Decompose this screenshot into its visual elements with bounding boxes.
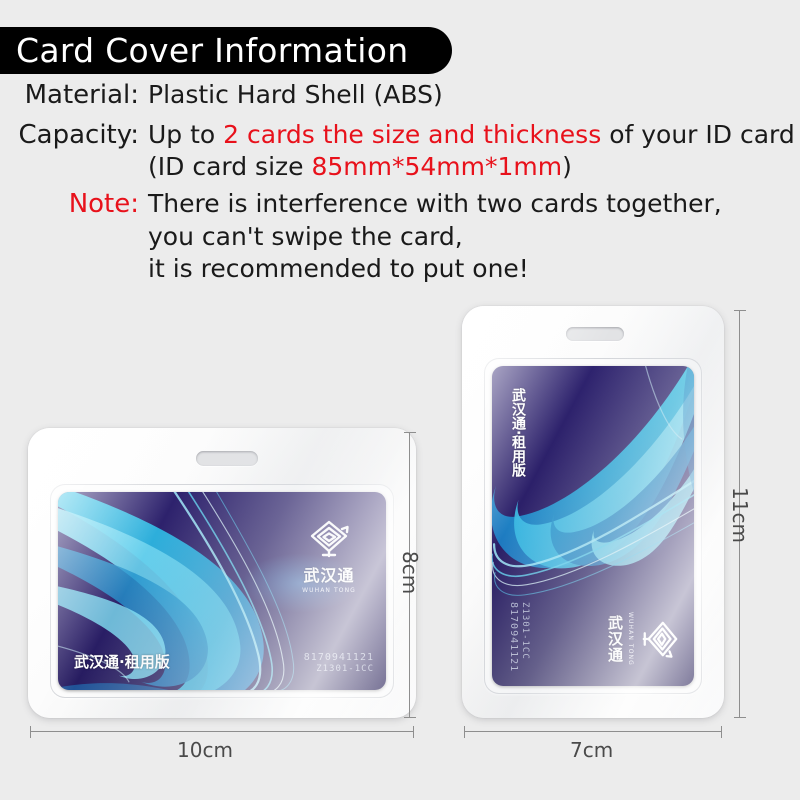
- capacity-text-pre: Up to: [148, 120, 223, 149]
- card-edition-vertical: 武汉通·租用版: [508, 388, 528, 477]
- dimension-width-label-horizontal: 10cm: [177, 738, 233, 762]
- transit-card-horizontal: 武汉通 WUHAN TONG 8170941121 Z1301-1CC 武汉通·…: [58, 492, 386, 690]
- capacity-text-post: of your ID card: [601, 120, 795, 149]
- dimension-height-label-vertical: 11cm: [728, 487, 752, 543]
- infographic-canvas: Card Cover Information Material: Plastic…: [0, 0, 800, 800]
- spec-row-material: Material: Plastic Hard Shell (ABS): [0, 82, 800, 108]
- spec-row-capacity: Capacity: Up to 2 cards the size and thi…: [0, 122, 800, 148]
- spec-row-note-2: you can't swipe the card,: [0, 224, 800, 249]
- card-serial-bottom-horizontal: Z1301-1CC: [304, 664, 374, 674]
- vertical-card-holder: 武汉通·租用版 8170941121 Z1301-1CC 武汉通 WUHAN T…: [462, 306, 724, 718]
- horizontal-card-holder: 武汉通 WUHAN TONG 8170941121 Z1301-1CC 武汉通·…: [28, 428, 416, 718]
- card-serial-group-vertical: 8170941121 Z1301-1CC: [508, 602, 530, 672]
- capacity-value-line2: (ID card size 85mm*54mm*1mm): [0, 154, 572, 179]
- card-brand-cn-horizontal: 武汉通: [286, 562, 372, 586]
- card-serial-bottom-vertical: Z1301-1CC: [520, 602, 530, 672]
- card-logo-group-horizontal: 武汉通 WUHAN TONG: [286, 518, 372, 594]
- dimension-height-label-horizontal: 8cm: [398, 551, 422, 594]
- card-brand-en-vertical: WUHAN TONG: [627, 612, 634, 666]
- note-line-3: it is recommended to put one!: [0, 256, 529, 281]
- material-label: Material:: [0, 82, 148, 108]
- dimension-width-vertical-holder: [464, 726, 722, 738]
- card-serial-group-horizontal: 8170941121 Z1301-1CC: [304, 652, 374, 674]
- spec-row-note: Note: There is interference with two car…: [0, 191, 800, 217]
- lanyard-slot-horizontal: [196, 451, 258, 466]
- lanyard-slot-vertical: [566, 327, 624, 341]
- capacity-value-line1: Up to 2 cards the size and thickness of …: [148, 122, 795, 147]
- specification-block: Material: Plastic Hard Shell (ABS) Capac…: [0, 78, 800, 281]
- card-brand-en-horizontal: WUHAN TONG: [286, 587, 372, 594]
- title-banner: Card Cover Information: [0, 27, 452, 74]
- transit-card-vertical: 武汉通·租用版 8170941121 Z1301-1CC 武汉通 WUHAN T…: [492, 366, 694, 686]
- spec-row-capacity-detail: (ID card size 85mm*54mm*1mm): [0, 154, 800, 179]
- card-serial-top-vertical: 8170941121: [508, 602, 519, 672]
- note-line-1: There is interference with two cards tog…: [148, 191, 722, 216]
- wuhan-tong-logo-icon: [286, 518, 372, 560]
- note-line-2: you can't swipe the card,: [0, 224, 463, 249]
- material-value: Plastic Hard Shell (ABS): [148, 82, 443, 107]
- dimension-width-label-vertical: 7cm: [570, 738, 613, 762]
- spec-row-note-3: it is recommended to put one!: [0, 256, 800, 281]
- idcard-size-post: ): [562, 152, 572, 181]
- card-serial-top-horizontal: 8170941121: [304, 652, 374, 663]
- idcard-size-pre: (ID card size: [148, 152, 311, 181]
- dimension-width-horizontal-holder: [30, 726, 414, 738]
- card-window-horizontal: 武汉通 WUHAN TONG 8170941121 Z1301-1CC 武汉通·…: [50, 484, 394, 698]
- wuhan-tong-logo-icon-vertical: [640, 617, 680, 661]
- page-title: Card Cover Information: [16, 31, 408, 70]
- card-logo-group-vertical: 武汉通 WUHAN TONG: [605, 612, 682, 666]
- note-label: Note:: [0, 191, 148, 217]
- card-brand-cn-vertical: 武汉通: [605, 615, 626, 663]
- capacity-label: Capacity:: [0, 122, 148, 148]
- capacity-text-highlight: 2 cards the size and thickness: [223, 120, 601, 149]
- idcard-size-highlight: 85mm*54mm*1mm: [311, 152, 562, 181]
- card-edition-horizontal: 武汉通·租用版: [74, 651, 170, 672]
- card-window-vertical: 武汉通·租用版 8170941121 Z1301-1CC 武汉通 WUHAN T…: [484, 358, 702, 694]
